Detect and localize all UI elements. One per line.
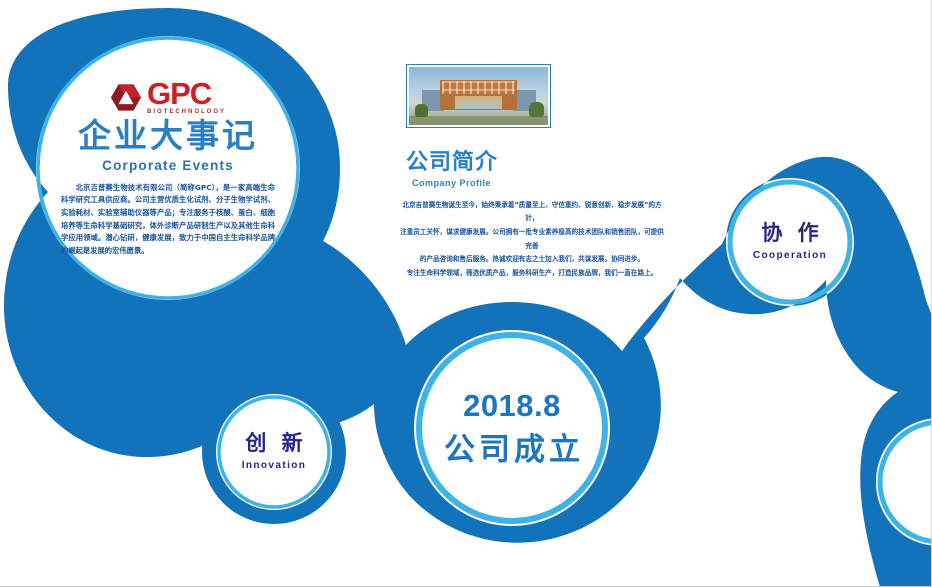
photo-window-grid <box>442 81 514 94</box>
node-edge-partial[interactable] <box>888 408 932 504</box>
node-cooperation[interactable]: 协 作 Cooperation <box>730 182 850 302</box>
corporate-events-title-en: Corporate Events <box>102 158 234 173</box>
photo-left-tree <box>415 104 429 117</box>
gpc-letters: GPC <box>147 79 211 108</box>
founded-content: 2018.8 公司成立 <box>422 390 602 466</box>
corporate-events-content: GPC BIOTECHNOLOGY 企业大事记 Corporate Events… <box>38 79 298 257</box>
node-company-profile[interactable]: 公司简介 Company Profile 北京吉普赛生物诞生至今，始终秉承着“质… <box>390 72 670 272</box>
company-profile-content: 公司简介 Company Profile 北京吉普赛生物诞生至今，始终秉承着“质… <box>390 64 670 280</box>
corporate-events-title-cn: 企业大事记 <box>78 119 258 154</box>
node-founded[interactable]: 2018.8 公司成立 <box>422 338 602 518</box>
hexagon-triangle-icon <box>110 83 142 112</box>
cooperation-title-cn: 协 作 <box>757 223 822 244</box>
corporate-events-body: 北京吉普赛生物技术有限公司（简称GPC），是一家高端生命科学研究工具供应商。公司… <box>61 182 275 257</box>
node-innovation[interactable]: 创 新 Innovation <box>214 392 334 512</box>
gpc-tagline: BIOTECHNOLOGY <box>147 109 226 115</box>
company-building-photo <box>406 64 551 128</box>
photo-ground <box>409 116 548 125</box>
cooperation-content: 协 作 Cooperation <box>730 223 850 261</box>
innovation-title-cn: 创 新 <box>241 433 306 454</box>
innovation-content: 创 新 Innovation <box>214 433 334 471</box>
founded-title-cn: 公司成立 <box>440 435 584 466</box>
photo-glass-facade <box>455 96 502 109</box>
company-profile-title-en: Company Profile <box>412 178 491 188</box>
gpc-logo: GPC BIOTECHNOLOGY <box>110 79 226 115</box>
cooperation-title-en: Cooperation <box>753 250 827 261</box>
profile-line: 专注生命科学领域，筛选优质产品，服务科研生产，打造民族品牌，我们一直在路上。 <box>398 267 666 281</box>
profile-line: 北京吉普赛生物诞生至今，始终秉承着“质量至上、守信重约、锐意创新、稳步发展”的方… <box>398 199 666 226</box>
company-profile-title-cn: 公司简介 <box>406 144 498 176</box>
node-corporate-events[interactable]: GPC BIOTECHNOLOGY 企业大事记 Corporate Events… <box>38 38 298 298</box>
innovation-title-en: Innovation <box>242 460 307 471</box>
founded-date: 2018.8 <box>463 390 561 421</box>
gpc-wordmark: GPC BIOTECHNOLOGY <box>147 79 226 115</box>
profile-line: 的产品咨询和售后服务。热诚欢迎有志之士加入我们，共谋发展，协同进步。 <box>398 253 666 267</box>
company-profile-body: 北京吉普赛生物诞生至今，始终秉承着“质量至上、守信重约、锐意创新、稳步发展”的方… <box>398 199 666 280</box>
photo-right-tree <box>529 102 544 117</box>
profile-line: 注重员工关怀，谋求健康发展。公司拥有一批专业素养极高的技术团队和销售团队，可提供… <box>398 226 666 253</box>
building-image <box>409 67 548 125</box>
infographic-canvas: GPC BIOTECHNOLOGY 企业大事记 Corporate Events… <box>0 0 932 587</box>
